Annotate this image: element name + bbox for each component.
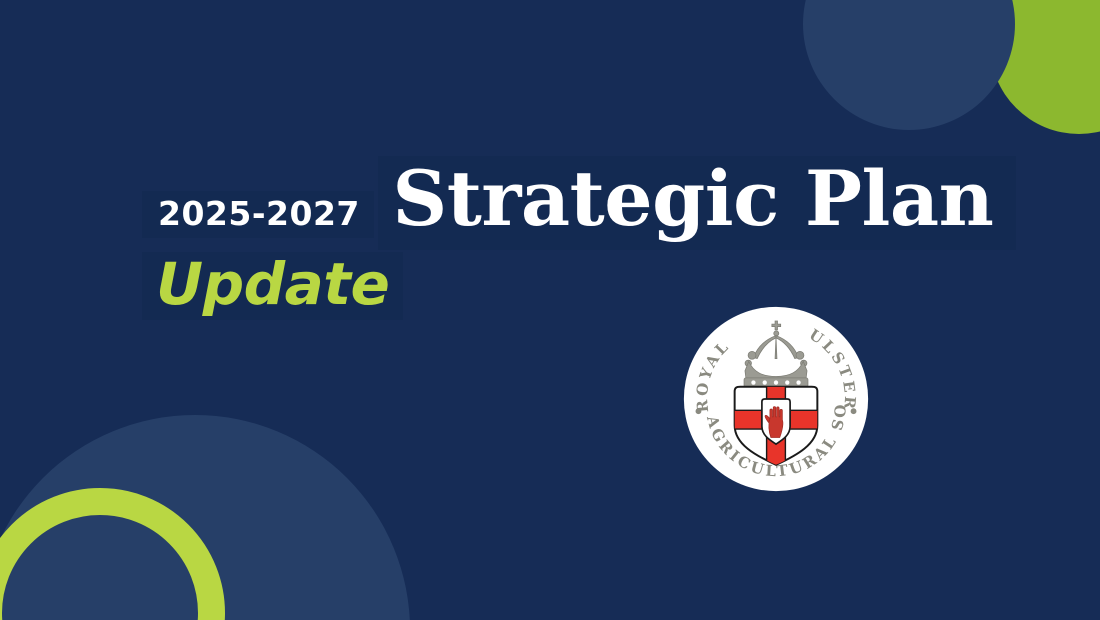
navy-circle-top-right-decoration	[803, 0, 1015, 130]
separator-dot-left	[696, 408, 702, 414]
royal-ulster-agricultural-society-logo: ROYAL ULSTER AGRICULTURAL SOCIETY	[682, 305, 870, 493]
headline-backdrop: Strategic Plan	[378, 156, 1016, 250]
subhead-backdrop: Update	[142, 252, 403, 321]
eyebrow-backdrop: 2025-2027	[142, 191, 374, 238]
slide-canvas: 2025-2027 Strategic Plan Update ROYAL	[0, 0, 1100, 620]
separator-dot-right	[851, 408, 857, 414]
page-subtitle: Update	[156, 254, 389, 315]
page-title: Strategic Plan	[392, 160, 1002, 238]
plan-period-label: 2025-2027	[158, 197, 360, 230]
title-group: 2025-2027 Strategic Plan Update	[142, 150, 1100, 320]
